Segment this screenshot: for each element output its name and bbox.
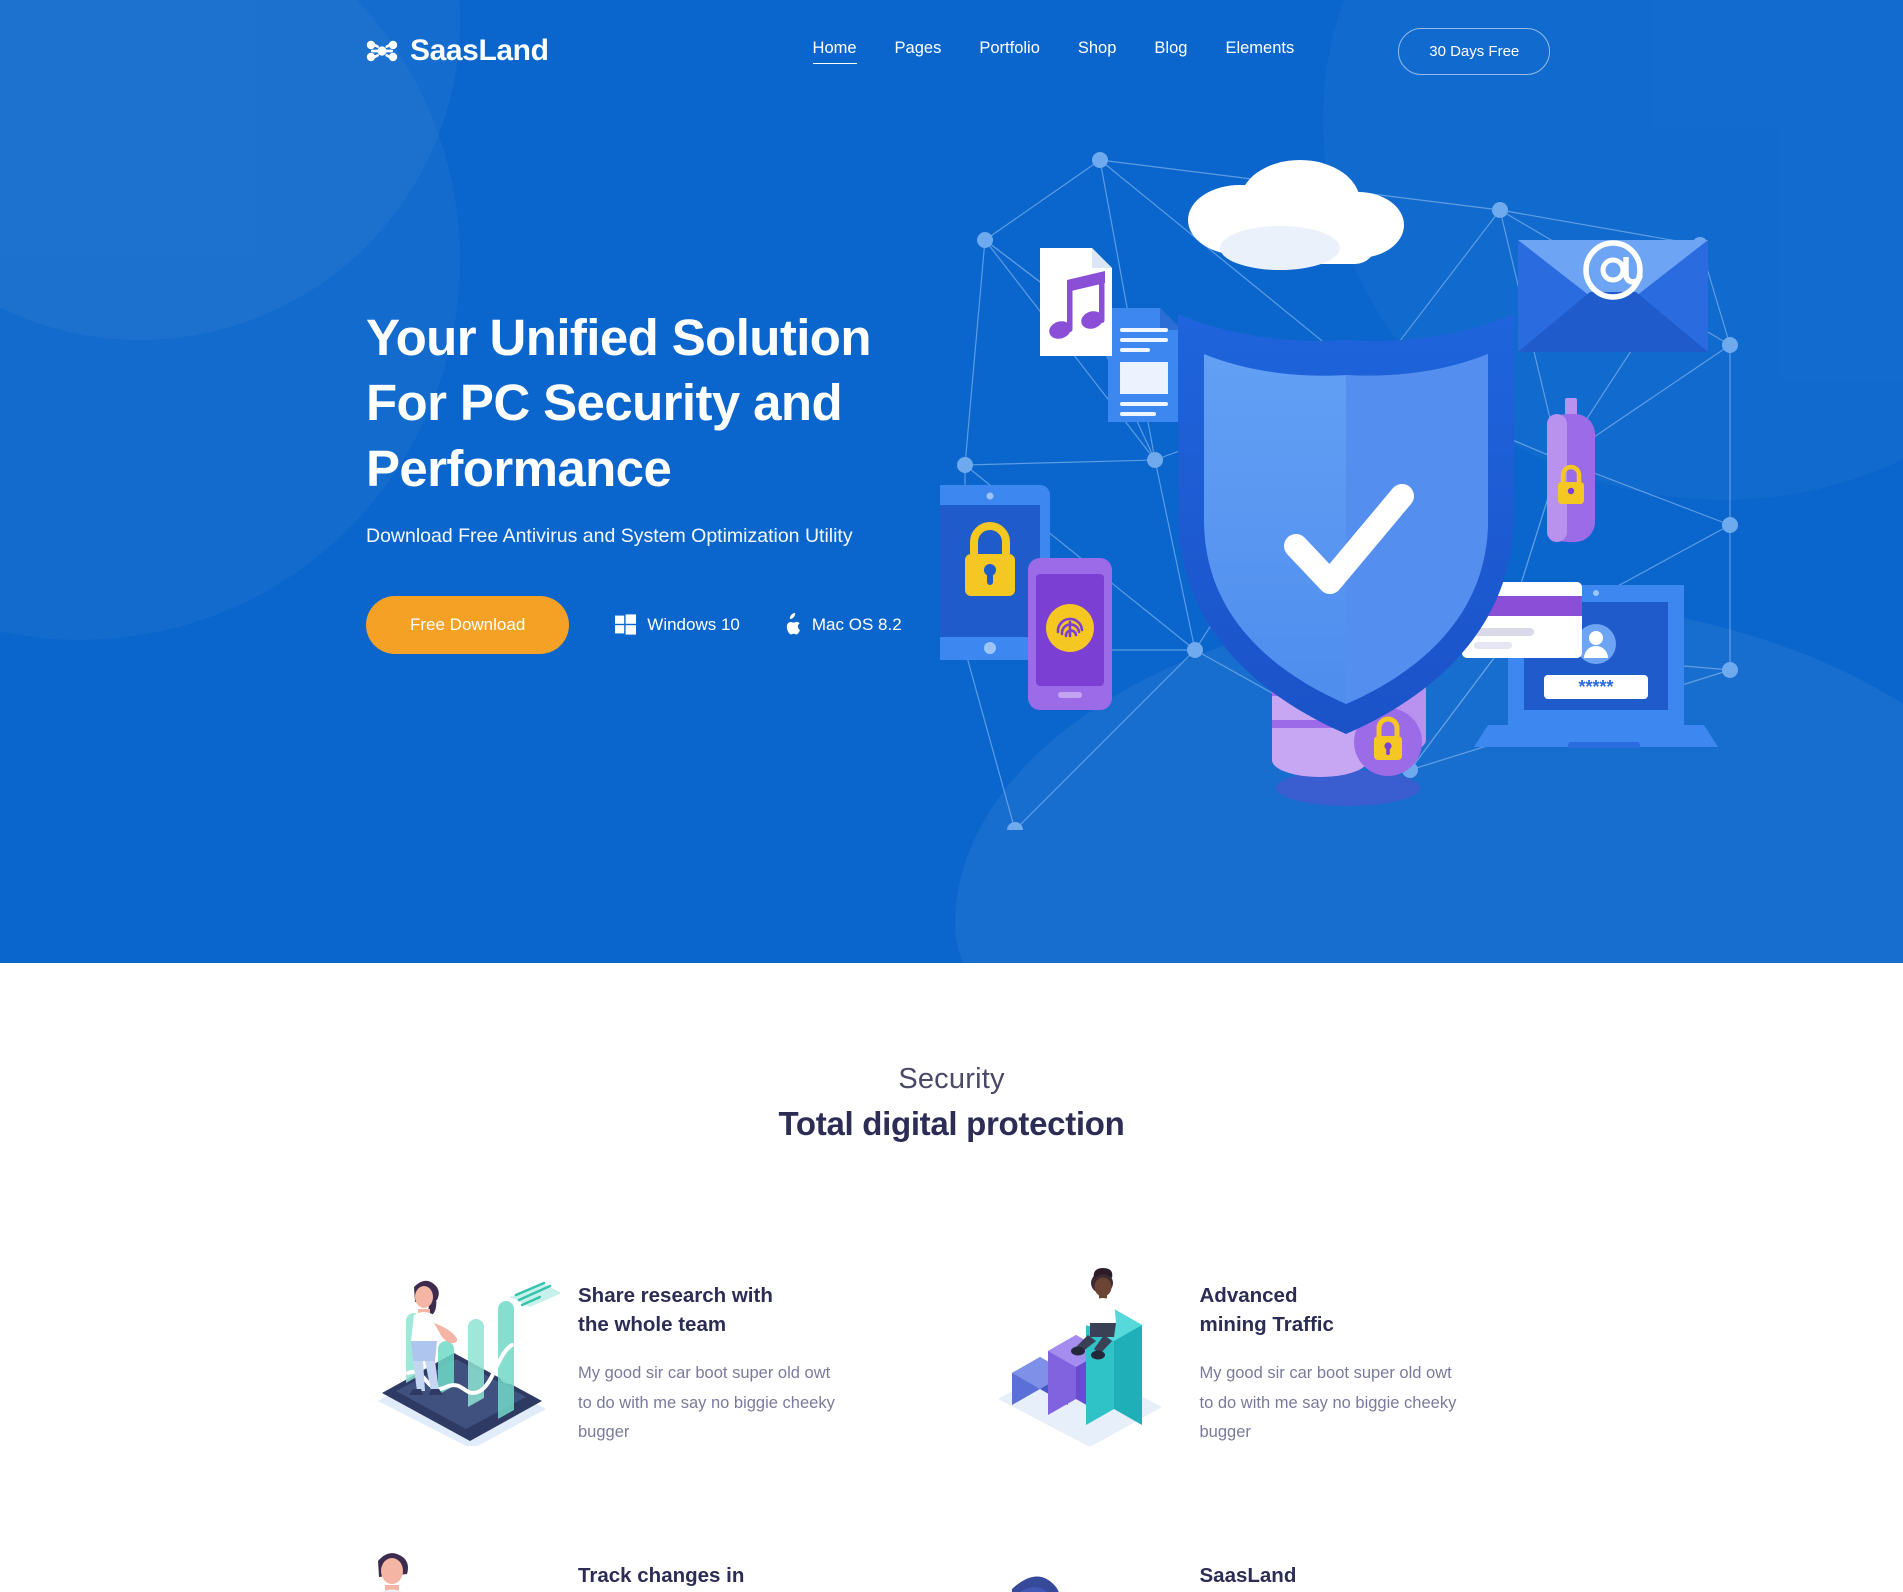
section-eyebrow: Security xyxy=(0,1063,1903,1096)
feature-body: Share research with the whole team My go… xyxy=(578,1261,922,1447)
nav-item-blog[interactable]: Blog xyxy=(1154,39,1187,63)
feature-title: Share research with the whole team xyxy=(578,1281,823,1339)
email-icon xyxy=(1518,240,1708,352)
site-header: SaasLand Home Pages Portfolio Shop Blog … xyxy=(0,0,1903,80)
feature-body: Track changes in xyxy=(578,1541,922,1592)
brand-name: SaasLand xyxy=(410,34,549,68)
main-navigation: Home Pages Portfolio Shop Blog Elements xyxy=(813,39,1295,64)
nav-item-pages[interactable]: Pages xyxy=(895,39,942,63)
shield-check-icon xyxy=(1178,314,1514,734)
hero-content: Your Unified Solution For PC Security an… xyxy=(366,305,986,654)
feature-body: Advanced mining Traffic My good sir car … xyxy=(1200,1261,1544,1447)
network-molecule-icon xyxy=(365,38,399,64)
feature-card: Track changes in xyxy=(360,1541,922,1592)
nav-item-shop[interactable]: Shop xyxy=(1078,39,1117,63)
music-file-icon xyxy=(1040,248,1112,356)
feature-text: My good sir car boot super old owt to do… xyxy=(1200,1359,1470,1447)
feature-card: Advanced mining Traffic My good sir car … xyxy=(982,1261,1544,1447)
features-grid: Share research with the whole team My go… xyxy=(0,1261,1903,1592)
feature-title-line-2: mining Traffic xyxy=(1200,1313,1334,1336)
feature-title: Track changes in xyxy=(578,1561,823,1590)
brand-logo[interactable]: SaasLand xyxy=(365,34,549,68)
cloud-icon xyxy=(1188,160,1404,270)
usb-lock-icon xyxy=(1547,398,1595,542)
platform-mac-label: Mac OS 8.2 xyxy=(812,615,902,635)
document-icon xyxy=(1108,308,1182,422)
free-download-button[interactable]: Free Download xyxy=(366,596,569,654)
fingerprint-phone-icon xyxy=(1028,558,1112,710)
apple-icon xyxy=(782,613,801,636)
svg-text:*****: ***** xyxy=(1578,677,1613,697)
feature-title: Advanced mining Traffic xyxy=(1200,1281,1445,1339)
hero-title-line-1: Your Unified Solution xyxy=(366,309,871,366)
feature-title-line-1: Advanced xyxy=(1200,1284,1298,1307)
section-title: Total digital protection xyxy=(0,1105,1903,1143)
security-network-shield-illustration: ***** xyxy=(940,130,1770,830)
feature-card: Share research with the whole team My go… xyxy=(360,1261,922,1447)
hero-subtitle: Download Free Antivirus and System Optim… xyxy=(366,525,986,548)
trial-button[interactable]: 30 Days Free xyxy=(1398,28,1550,75)
feature-text: My good sir car boot super old owt to do… xyxy=(578,1359,848,1447)
hero-title-line-3: Performance xyxy=(366,440,671,497)
feature-title-line-1: Share research with xyxy=(578,1284,773,1307)
platform-mac[interactable]: Mac OS 8.2 xyxy=(782,613,902,636)
man-documents-illustration xyxy=(360,1541,560,1592)
woman-phone-chart-illustration xyxy=(360,1261,560,1446)
platform-windows[interactable]: Windows 10 xyxy=(615,614,740,635)
feature-title: SaasLand xyxy=(1200,1561,1445,1590)
nav-item-home[interactable]: Home xyxy=(813,39,857,64)
feature-title-line-2: the whole team xyxy=(578,1313,726,1336)
feature-card: SaasLand xyxy=(982,1541,1544,1592)
man-bar-chart-illustration xyxy=(982,1261,1182,1446)
hero-title: Your Unified Solution For PC Security an… xyxy=(366,305,986,501)
platform-windows-label: Windows 10 xyxy=(647,615,740,635)
hero-section: SaasLand Home Pages Portfolio Shop Blog … xyxy=(0,0,1903,963)
windows-icon xyxy=(615,614,636,635)
nav-item-elements[interactable]: Elements xyxy=(1225,39,1294,63)
nav-item-portfolio[interactable]: Portfolio xyxy=(979,39,1040,63)
hero-actions: Free Download Windows 10 xyxy=(366,596,986,654)
security-section: Security Total digital protection xyxy=(0,963,1903,1592)
feature-body: SaasLand xyxy=(1200,1541,1544,1592)
blue-shape-illustration xyxy=(982,1541,1182,1592)
section-heading: Security Total digital protection xyxy=(0,1063,1903,1143)
hero-title-line-2: For PC Security and xyxy=(366,374,842,431)
